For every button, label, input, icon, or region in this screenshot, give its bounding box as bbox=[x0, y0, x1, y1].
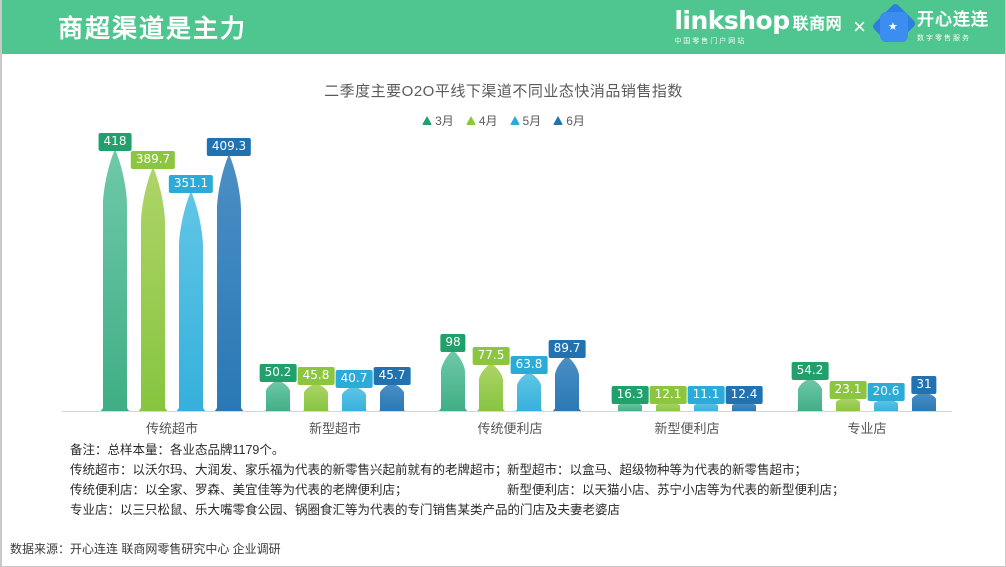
note-text: 备注：总样本量：各业态品牌1179个。 bbox=[70, 443, 284, 457]
linkshop-cn-name: 联商网 bbox=[793, 17, 843, 33]
bar-value-label: 40.7 bbox=[336, 370, 373, 388]
legend-item-4月[interactable]: 4月 bbox=[466, 112, 498, 129]
tag-star-icon: ★ bbox=[877, 8, 911, 46]
legend-item-3月[interactable]: 3月 bbox=[422, 112, 454, 129]
bar-shape bbox=[795, 378, 825, 412]
bar-value-label: 77.5 bbox=[473, 347, 510, 365]
bar-value-label: 351.1 bbox=[169, 175, 213, 193]
x-axis-label-传统便利店: 传统便利店 bbox=[477, 418, 542, 437]
bar-shape bbox=[339, 386, 369, 412]
note-line-2: 传统超市：以沃尔玛、大润发、家乐福为代表的新零售兴起前就有的老牌超市； 新型超市… bbox=[70, 460, 970, 480]
note-text: 专业店：以三只松鼠、乐大嘴零食公园、锅圈食汇等为代表的专门销售某类产品的门店及夫… bbox=[70, 503, 620, 517]
x-axis-line bbox=[62, 411, 952, 412]
legend-item-6月[interactable]: 6月 bbox=[553, 112, 585, 129]
bar-value-label: 11.1 bbox=[688, 386, 725, 404]
legend-marker-icon bbox=[553, 116, 563, 125]
bar-新型便利店-6月[interactable]: 12.4 bbox=[729, 382, 759, 412]
bar-value-label: 45.7 bbox=[374, 367, 411, 385]
legend-marker-icon bbox=[466, 116, 476, 125]
note-line-4: 专业店：以三只松鼠、乐大嘴零食公园、锅圈食汇等为代表的专门销售某类产品的门店及夫… bbox=[70, 500, 970, 520]
legend-marker-icon bbox=[510, 116, 520, 125]
bar-shape bbox=[138, 167, 168, 412]
bar-group-传统便利店: 9877.563.889.7 bbox=[438, 330, 582, 412]
bar-传统便利店-6月[interactable]: 89.7 bbox=[552, 336, 582, 412]
bar-value-label: 389.7 bbox=[131, 151, 175, 169]
bar-shape bbox=[476, 363, 506, 412]
notes-block: 备注：总样本量：各业态品牌1179个。 传统超市：以沃尔玛、大润发、家乐福为代表… bbox=[70, 440, 970, 520]
x-axis-label-新型超市: 新型超市 bbox=[309, 418, 361, 437]
x-axis-label-传统超市: 传统超市 bbox=[146, 418, 198, 437]
bar-value-label: 12.1 bbox=[650, 386, 687, 404]
bar-group-新型便利店: 16.312.111.112.4 bbox=[615, 382, 759, 412]
chart-legend: 3月4月5月6月 bbox=[2, 112, 1005, 129]
bar-shape bbox=[176, 191, 206, 412]
bar-新型便利店-3月[interactable]: 16.3 bbox=[615, 382, 645, 412]
slide-root: 商超渠道是主力 linkshop 联商网 中国零售门户网站 × ★ 开心连连 数 bbox=[0, 0, 1006, 567]
bar-新型便利店-4月[interactable]: 12.1 bbox=[653, 382, 683, 412]
note-text-left: 传统便利店：以全家、罗森、美宜佳等为代表的老牌便利店； bbox=[70, 483, 408, 497]
bar-新型超市-6月[interactable]: 45.7 bbox=[377, 363, 407, 412]
bar-新型便利店-5月[interactable]: 11.1 bbox=[691, 382, 721, 412]
bar-value-label: 45.8 bbox=[298, 367, 335, 385]
bar-group-专业店: 54.223.120.631 bbox=[795, 358, 939, 412]
bar-value-label: 54.2 bbox=[792, 362, 829, 380]
bar-shape bbox=[833, 397, 863, 412]
legend-label: 6月 bbox=[566, 112, 585, 129]
data-source: 数据来源：开心连连 联商网零售研究中心 企业调研 bbox=[10, 540, 281, 557]
kaixin-subtitle: 数字零售服务 bbox=[917, 33, 989, 43]
linkshop-logo: linkshop 联商网 中国零售门户网站 bbox=[674, 8, 842, 46]
note-text-left: 传统超市：以沃尔玛、大润发、家乐福为代表的新零售兴起前就有的老牌超市； bbox=[70, 463, 508, 477]
page-header: 商超渠道是主力 linkshop 联商网 中国零售门户网站 × ★ 开心连连 数 bbox=[2, 0, 1005, 54]
bar-专业店-6月[interactable]: 31 bbox=[909, 372, 939, 412]
bar-传统便利店-4月[interactable]: 77.5 bbox=[476, 343, 506, 412]
note-text-right: 新型超市：以盒马、超级物种等为代表的新零售超市； bbox=[507, 460, 807, 480]
brand-logos: linkshop 联商网 中国零售门户网站 × ★ 开心连连 数字零售服务 bbox=[674, 8, 989, 46]
x-axis-label-新型便利店: 新型便利店 bbox=[654, 418, 719, 437]
bar-shape bbox=[438, 350, 468, 412]
legend-label: 3月 bbox=[435, 112, 454, 129]
bar-专业店-4月[interactable]: 23.1 bbox=[833, 377, 863, 412]
bar-value-label: 63.8 bbox=[511, 356, 548, 374]
note-text-right: 新型便利店：以天猫小店、苏宁小店等为代表的新型便利店； bbox=[507, 480, 845, 500]
bar-专业店-5月[interactable]: 20.6 bbox=[871, 379, 901, 412]
bar-shape bbox=[909, 392, 939, 412]
bar-value-label: 12.4 bbox=[726, 386, 763, 404]
bar-shape bbox=[214, 154, 244, 412]
bar-shape bbox=[301, 383, 331, 412]
bar-shape bbox=[100, 149, 130, 412]
bar-value-label: 16.3 bbox=[612, 386, 649, 404]
chart-title: 二季度主要O2O平线下渠道不同业态快消品销售指数 bbox=[2, 80, 1005, 101]
bar-value-label: 418 bbox=[99, 133, 132, 151]
bar-新型超市-5月[interactable]: 40.7 bbox=[339, 366, 369, 412]
bar-value-label: 409.3 bbox=[207, 138, 251, 156]
bar-新型超市-4月[interactable]: 45.8 bbox=[301, 363, 331, 412]
bar-value-label: 98 bbox=[440, 334, 465, 352]
note-line-3: 传统便利店：以全家、罗森、美宜佳等为代表的老牌便利店； 新型便利店：以天猫小店、… bbox=[70, 480, 970, 500]
bar-value-label: 23.1 bbox=[830, 381, 867, 399]
note-line-1: 备注：总样本量：各业态品牌1179个。 bbox=[70, 440, 970, 460]
bar-shape bbox=[552, 356, 582, 412]
bar-传统便利店-3月[interactable]: 98 bbox=[438, 330, 468, 412]
bar-value-label: 50.2 bbox=[260, 364, 297, 382]
bar-value-label: 20.6 bbox=[868, 383, 905, 401]
bar-shape bbox=[263, 380, 293, 412]
legend-label: 4月 bbox=[479, 112, 498, 129]
bar-新型超市-3月[interactable]: 50.2 bbox=[263, 360, 293, 412]
bar-传统超市-6月[interactable]: 409.3 bbox=[214, 134, 244, 412]
page-title: 商超渠道是主力 bbox=[58, 9, 247, 45]
x-axis-labels: 传统超市新型超市传统便利店新型便利店专业店 bbox=[62, 418, 952, 438]
linkshop-wordmark: linkshop bbox=[674, 8, 789, 33]
bar-shape bbox=[514, 372, 544, 412]
x-axis-label-专业店: 专业店 bbox=[847, 418, 886, 437]
bar-group-传统超市: 418389.7351.1409.3 bbox=[100, 129, 244, 412]
bar-shape bbox=[377, 383, 407, 412]
bar-专业店-3月[interactable]: 54.2 bbox=[795, 358, 825, 412]
bar-传统超市-3月[interactable]: 418 bbox=[100, 129, 130, 412]
kaixin-cn-name: 开心连连 bbox=[917, 11, 989, 30]
linkshop-subtitle: 中国零售门户网站 bbox=[674, 36, 746, 46]
kaixin-logo: ★ 开心连连 数字零售服务 bbox=[877, 8, 989, 46]
legend-item-5月[interactable]: 5月 bbox=[510, 112, 542, 129]
bar-value-label: 89.7 bbox=[549, 340, 586, 358]
legend-marker-icon bbox=[422, 116, 432, 125]
bar-传统超市-4月[interactable]: 389.7 bbox=[138, 147, 168, 412]
legend-label: 5月 bbox=[523, 112, 542, 129]
chart-plot-area: 418389.7351.1409.350.245.840.745.79877.5… bbox=[62, 135, 952, 412]
bar-group-新型超市: 50.245.840.745.7 bbox=[263, 360, 407, 412]
brand-connector-icon: × bbox=[851, 16, 868, 38]
bar-传统便利店-5月[interactable]: 63.8 bbox=[514, 352, 544, 412]
bar-value-label: 31 bbox=[911, 376, 936, 394]
bar-传统超市-5月[interactable]: 351.1 bbox=[176, 171, 206, 412]
